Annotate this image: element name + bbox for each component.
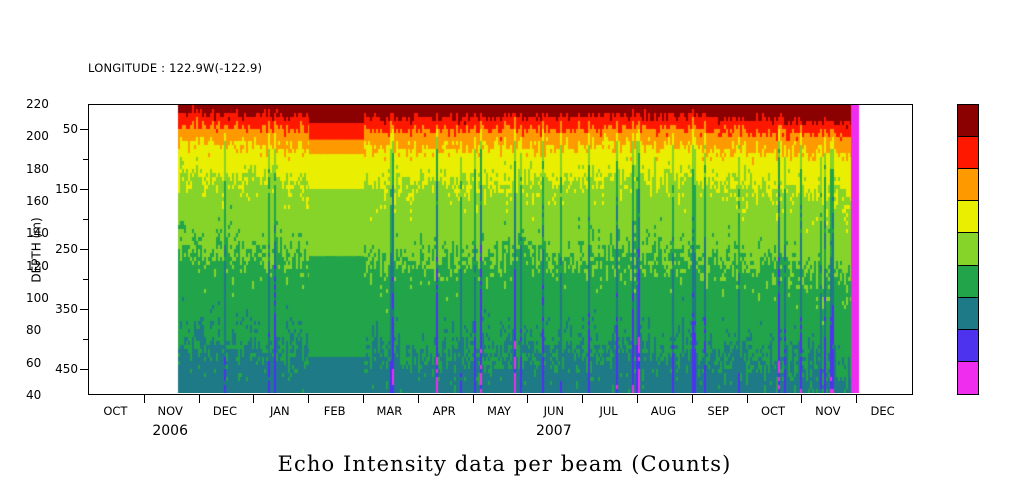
x-month-label-8-jun: JUN	[544, 404, 564, 418]
colorbar-band-80-100	[958, 298, 978, 330]
x-tick-12	[747, 394, 748, 403]
x-month-label-5-mar: MAR	[377, 404, 403, 418]
colorbar-band-200-220	[958, 105, 978, 137]
x-tick-7	[473, 394, 474, 403]
colorbar-tick-140: 140	[26, 226, 49, 240]
colorbar-tick-220: 220	[26, 97, 49, 111]
colorbar-band-140-160	[958, 201, 978, 233]
longitude-label: LONGITUDE : 122.9W(-122.9)	[88, 61, 262, 76]
y-tick-minor-200	[83, 219, 89, 220]
colorbar-band-40-60	[958, 362, 978, 394]
x-month-label-0-oct: OCT	[103, 404, 127, 418]
colorbar-band-160-180	[958, 169, 978, 201]
y-tick-50	[80, 129, 89, 130]
y-tick-label-350: 350	[55, 302, 78, 316]
y-tick-label-150: 150	[55, 182, 78, 196]
x-tick-11	[692, 394, 693, 403]
colorbar-tick-120: 120	[26, 259, 49, 273]
x-tick-3	[253, 394, 254, 403]
x-month-label-4-feb: FEB	[324, 404, 346, 418]
colorbar-tick-180: 180	[26, 162, 49, 176]
x-tick-9	[582, 394, 583, 403]
x-month-label-10-aug: AUG	[651, 404, 676, 418]
y-tick-450	[80, 369, 89, 370]
colorbar-band-60-80	[958, 330, 978, 362]
x-year-label-2006: 2006	[152, 423, 188, 439]
x-tick-13	[801, 394, 802, 403]
colorbar-tick-60: 60	[26, 356, 41, 370]
y-tick-minor-400	[83, 339, 89, 340]
chart-title: Echo Intensity data per beam (Counts)	[0, 452, 1009, 476]
echo-intensity-heatmap	[89, 105, 911, 393]
y-tick-label-450: 450	[55, 362, 78, 376]
x-tick-6	[418, 394, 419, 403]
colorbar-tick-160: 160	[26, 194, 49, 208]
x-month-label-6-apr: APR	[433, 404, 456, 418]
colorbar-tick-40: 40	[26, 388, 41, 402]
y-tick-label-50: 50	[63, 122, 78, 136]
x-month-label-9-jul: JUL	[599, 404, 617, 418]
x-month-label-3-jan: JAN	[270, 404, 290, 418]
colorbar-tick-80: 80	[26, 323, 41, 337]
x-month-label-7-may: MAY	[487, 404, 511, 418]
x-month-label-11-sep: SEP	[707, 404, 729, 418]
x-month-label-14-dec: DEC	[871, 404, 895, 418]
y-axis-title: DEPTH (m)	[28, 104, 46, 395]
x-month-label-12-oct: OCT	[761, 404, 785, 418]
y-tick-minor-300	[83, 279, 89, 280]
heatmap-plot-area: 50150250350450	[88, 104, 913, 395]
colorbar-band-120-140	[958, 233, 978, 265]
x-year-label-2007: 2007	[536, 423, 572, 439]
x-month-label-1-nov: NOV	[158, 404, 183, 418]
x-tick-5	[363, 394, 364, 403]
x-tick-10	[637, 394, 638, 403]
x-tick-4	[308, 394, 309, 403]
y-tick-150	[80, 189, 89, 190]
x-tick-1	[144, 394, 145, 403]
x-tick-14	[856, 394, 857, 403]
colorbar-band-180-200	[958, 137, 978, 169]
y-tick-250	[80, 249, 89, 250]
colorbar-legend	[957, 104, 979, 395]
y-tick-label-250: 250	[55, 242, 78, 256]
y-tick-350	[80, 309, 89, 310]
colorbar-tick-100: 100	[26, 291, 49, 305]
colorbar-tick-200: 200	[26, 129, 49, 143]
colorbar-band-100-120	[958, 266, 978, 298]
y-tick-minor-100	[83, 159, 89, 160]
x-tick-8	[527, 394, 528, 403]
x-month-label-2-dec: DEC	[213, 404, 237, 418]
x-month-label-13-nov: NOV	[815, 404, 840, 418]
x-tick-2	[199, 394, 200, 403]
